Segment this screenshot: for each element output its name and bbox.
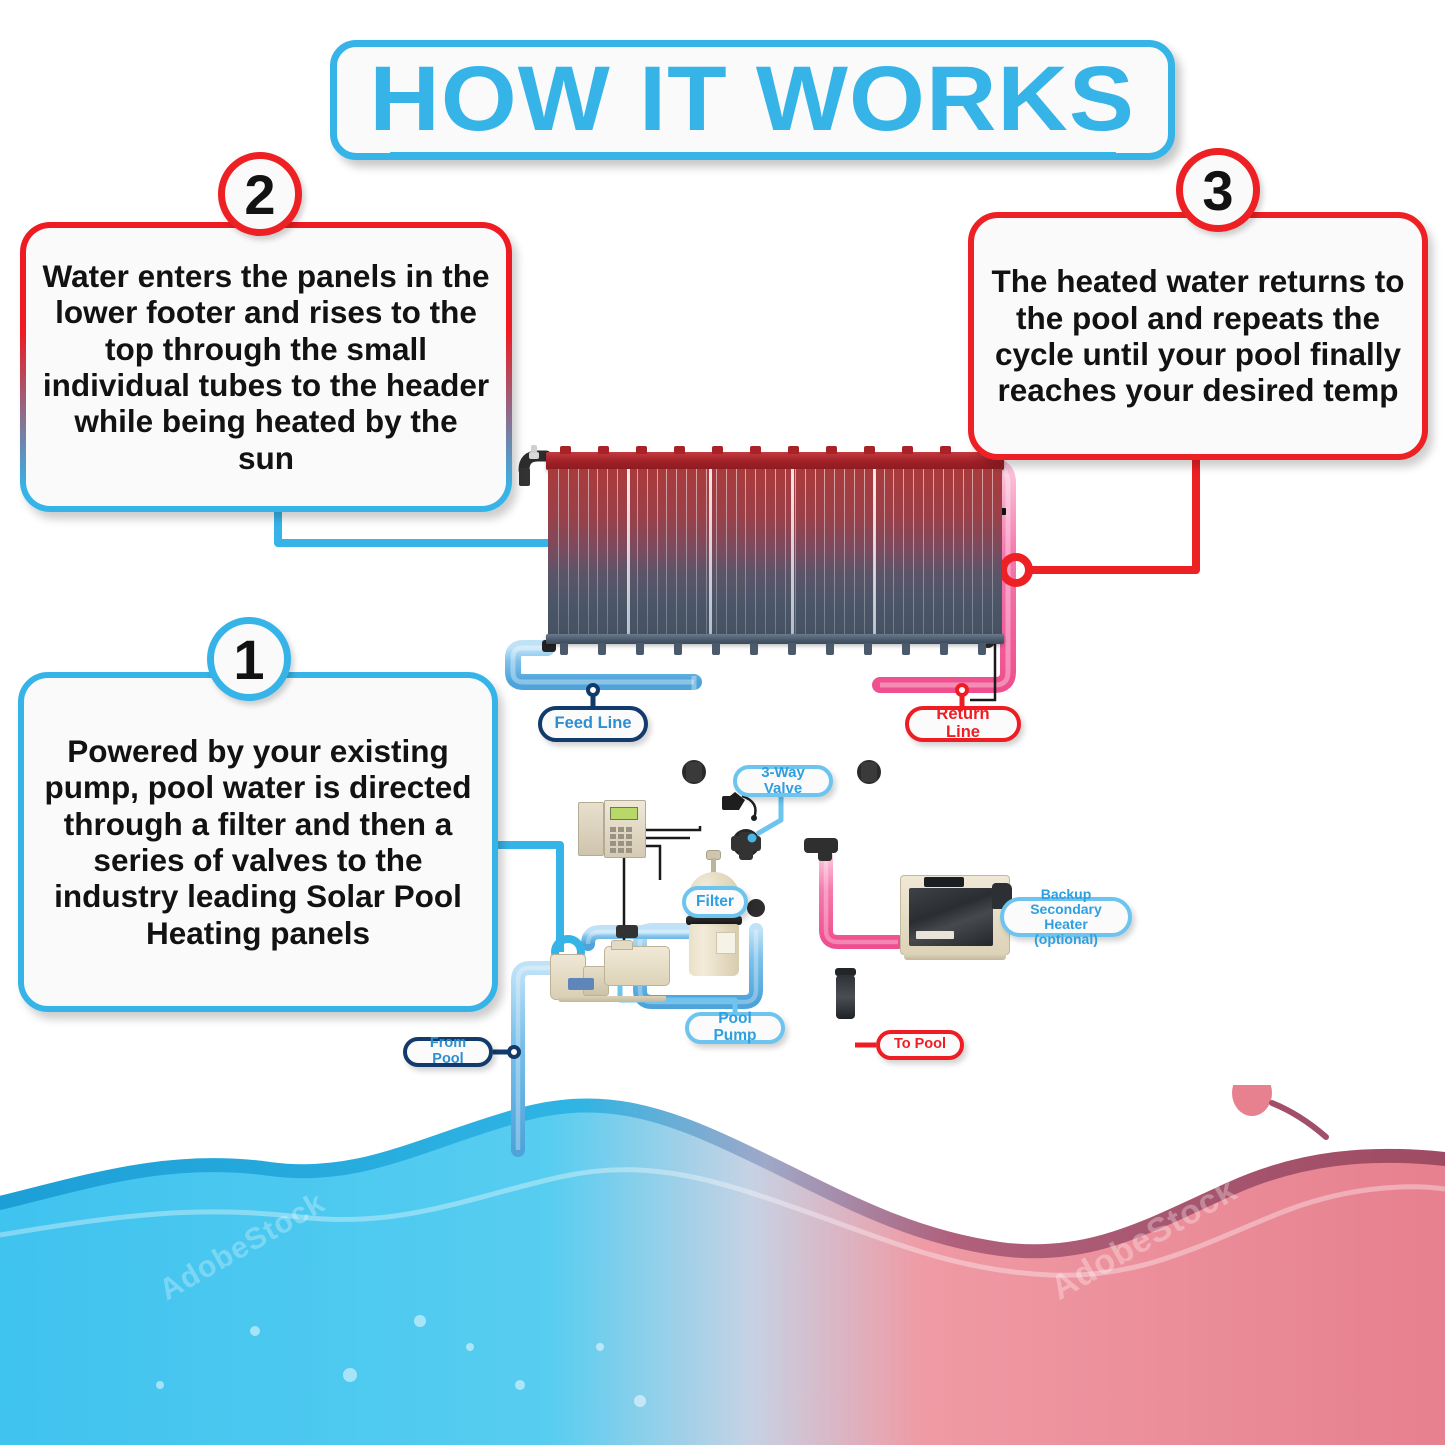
panel-tube (588, 469, 589, 635)
step-number-3: 3 (1176, 148, 1260, 232)
panel-tube (716, 469, 717, 635)
panel-tube (953, 469, 954, 635)
panel-tube (647, 469, 648, 635)
title-underline (390, 152, 1116, 153)
panel-tube (884, 469, 885, 635)
panel-tube (765, 469, 766, 635)
label-from-pool[interactable]: From Pool (403, 1037, 493, 1067)
callout-step-3[interactable]: The heated water returns to the pool and… (968, 212, 1428, 460)
panel-tube (933, 469, 934, 635)
panel-tube (706, 469, 707, 635)
panel-tube (755, 469, 756, 635)
panel-tube (696, 469, 697, 635)
panel-tube (923, 469, 924, 635)
footer-port (902, 643, 910, 655)
heater-label-strip (916, 931, 954, 939)
filter-spec-label (716, 932, 736, 954)
panel-tube (597, 469, 598, 635)
heater-base (904, 954, 1006, 960)
page-title-box: HOW IT WORKS (330, 40, 1175, 160)
footer-port (598, 643, 606, 655)
panel-tube (844, 469, 845, 635)
header-port (788, 446, 799, 454)
label-to-pool[interactable]: To Pool (876, 1030, 964, 1060)
footer-port (674, 643, 682, 655)
panel-tube (903, 469, 904, 635)
header-port (674, 446, 685, 454)
panel-tube (617, 469, 618, 635)
pool-pump (550, 940, 680, 1002)
label-feed-line[interactable]: Feed Line (538, 706, 648, 742)
panel-tube (686, 469, 687, 635)
panel-header-manifold (546, 452, 1004, 470)
panel-tube (666, 469, 667, 635)
heater-vent (924, 877, 964, 887)
panel-tube (834, 469, 835, 635)
pump-motor-cap (611, 940, 633, 950)
step-number-2: 2 (218, 152, 302, 236)
footer-port (978, 643, 986, 655)
panel-tube (943, 469, 944, 635)
panel-tube (805, 469, 806, 635)
panel-tube (824, 469, 825, 635)
panel-seam (873, 469, 876, 635)
footer-port (788, 643, 796, 655)
header-port (750, 446, 761, 454)
page-title: HOW IT WORKS (370, 53, 1136, 145)
panel-seam (709, 469, 712, 635)
panel-tube (854, 469, 855, 635)
footer-port (636, 643, 644, 655)
header-port (636, 446, 647, 454)
callout-step-1[interactable]: Powered by your existing pump, pool wate… (18, 672, 498, 1012)
panel-tube (637, 469, 638, 635)
pump-strainer-basket (550, 954, 586, 1000)
panel-tube (982, 469, 983, 635)
header-port (902, 446, 913, 454)
panel-tube (676, 469, 677, 635)
panel-tube (568, 469, 569, 635)
footer-port (864, 643, 872, 655)
control-box-lid (578, 802, 604, 856)
panel-seam (627, 469, 630, 635)
panel-tube (785, 469, 786, 635)
panel-tube (972, 469, 973, 635)
panel-tube (726, 469, 727, 635)
panel-seam (791, 469, 794, 635)
panel-tube (864, 469, 865, 635)
header-port (598, 446, 609, 454)
panel-tube (893, 469, 894, 635)
label-3-way-valve[interactable]: 3-Way Valve (733, 765, 833, 797)
panel-tube (578, 469, 579, 635)
label-pool-pump[interactable]: Pool Pump (685, 1012, 785, 1044)
label-filter[interactable]: Filter (682, 886, 748, 918)
header-port (560, 446, 571, 454)
callout-step-3-text: The heated water returns to the pool and… (974, 255, 1422, 417)
panel-tube (736, 469, 737, 635)
header-port (826, 446, 837, 454)
panel-tube (558, 469, 559, 635)
infographic-canvas: AdobeStock AdobeStock (0, 0, 1445, 1445)
header-port (864, 446, 875, 454)
filter-stem (711, 858, 716, 873)
panel-tube (815, 469, 816, 635)
header-port (940, 446, 951, 454)
inline-chlorinator (836, 975, 855, 1019)
control-box-display (610, 807, 638, 820)
pump-base (558, 996, 666, 1002)
footer-port (826, 643, 834, 655)
panel-tube (657, 469, 658, 635)
callout-step-2-text: Water enters the panels in the lower foo… (26, 250, 506, 484)
footer-port (940, 643, 948, 655)
footer-port (750, 643, 758, 655)
label-backup-heater[interactable]: Backup Secondary Heater (optional) (1000, 897, 1132, 937)
panel-footer-manifold (546, 634, 1004, 644)
footer-port (560, 643, 568, 655)
pump-motor (604, 946, 670, 986)
control-box-keypad (609, 826, 639, 846)
footer-port (712, 643, 720, 655)
callout-step-2[interactable]: Water enters the panels in the lower foo… (20, 222, 512, 512)
panel-face (548, 469, 1002, 635)
pump-badge (568, 978, 594, 990)
panel-tube (607, 469, 608, 635)
panel-tube (913, 469, 914, 635)
panel-tube (992, 469, 993, 635)
panel-tube (745, 469, 746, 635)
panel-tube (963, 469, 964, 635)
panel-tube (775, 469, 776, 635)
panel-tube (795, 469, 796, 635)
callout-step-1-text: Powered by your existing pump, pool wate… (24, 725, 492, 959)
control-box (578, 800, 646, 858)
step-number-1: 1 (207, 617, 291, 701)
solar-panel-array (540, 452, 1010, 652)
label-return-line[interactable]: Return Line (905, 706, 1021, 742)
backup-heater-unit (900, 875, 1010, 961)
header-port (712, 446, 723, 454)
